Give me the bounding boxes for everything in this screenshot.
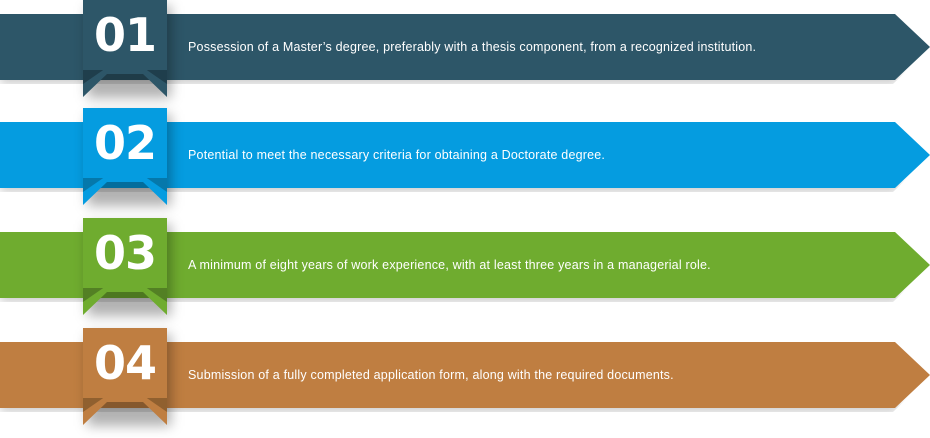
step-number: 03 [94,230,156,276]
step-description: A minimum of eight years of work experie… [188,232,878,298]
badge-face: 01 [83,0,167,70]
step-number-badge[interactable]: 01 [83,0,167,97]
step-description: Submission of a fully completed applicat… [188,342,878,408]
badge-face: 04 [83,328,167,398]
infographic-container: Possession of a Master’s degree, prefera… [0,0,930,412]
step-description: Possession of a Master’s degree, prefera… [188,14,878,80]
step-row: Possession of a Master’s degree, prefera… [0,0,930,110]
step-number-badge[interactable]: 02 [83,108,167,205]
step-number: 04 [94,340,156,386]
step-row: A minimum of eight years of work experie… [0,218,930,328]
badge-face: 02 [83,108,167,178]
step-number: 02 [94,120,156,166]
step-number-badge[interactable]: 03 [83,218,167,315]
step-row: Potential to meet the necessary criteria… [0,108,930,218]
step-row: Submission of a fully completed applicat… [0,328,930,438]
step-description: Potential to meet the necessary criteria… [188,122,878,188]
badge-face: 03 [83,218,167,288]
step-number: 01 [94,12,156,58]
step-number-badge[interactable]: 04 [83,328,167,425]
